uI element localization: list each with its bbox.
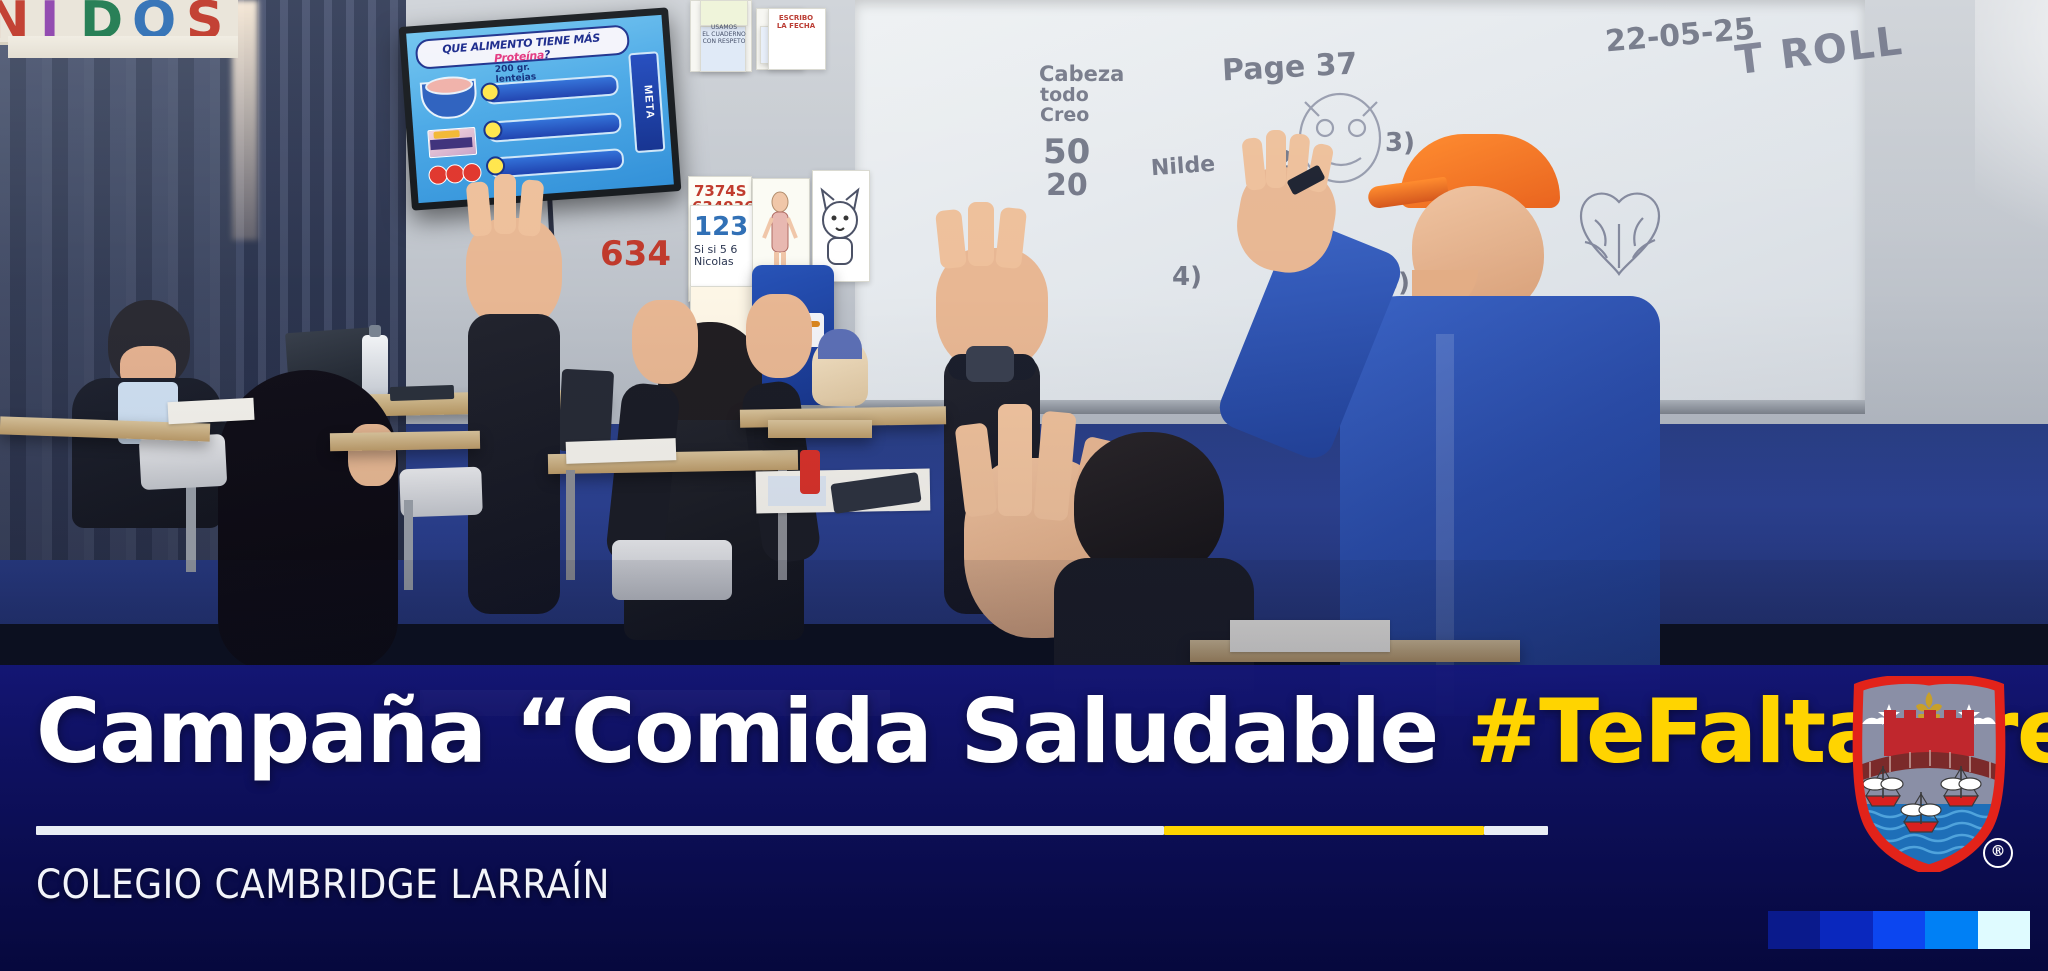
cat-poster-icon <box>818 180 862 270</box>
tv-screen-content: QUE ALIMENTO TIENE MÁS Proteína? 200 gr.… <box>406 15 674 203</box>
title-underline-white-left <box>36 826 1164 835</box>
whiteboard-note-left-2: todo <box>1040 84 1089 106</box>
brand-color-bar <box>1768 911 2030 949</box>
tv-question-end: ? <box>544 48 551 61</box>
raised-finger-l2 <box>494 174 516 234</box>
whiteboard-note-left-3: Creo <box>1040 104 1089 126</box>
desk-paper-1 <box>566 438 677 464</box>
whiteboard-fifty: 50 <box>1043 132 1090 172</box>
swatch-2 <box>1820 911 1872 949</box>
raised-finger-l1 <box>466 181 493 237</box>
poster-number-123: 123 <box>694 212 748 242</box>
classroom-screen: QUE ALIMENTO TIENE MÁS Proteína? 200 gr.… <box>399 7 682 210</box>
whiteboard-note-left-1: Cabeza <box>1039 62 1124 86</box>
swatch-3 <box>1873 911 1925 949</box>
poster-number-634: 634 <box>600 234 671 274</box>
student-desk-3 <box>768 420 872 438</box>
teacher-finger-2 <box>1266 130 1286 188</box>
campaign-title: Campaña “Comida Saludable #TeFaltaJurel” <box>36 688 2048 776</box>
wristwatch-face <box>966 346 1014 382</box>
desk-paper-3 <box>167 398 254 424</box>
desk-mid-left <box>330 431 480 452</box>
banner-decoration <box>8 36 238 58</box>
screenshot-root: 22-05-25 T ROLL Page 37 Cabeza todo Creo… <box>0 0 2048 971</box>
center-boy-hand-left <box>632 300 698 384</box>
raised-finger-r2 <box>968 202 994 266</box>
tv-goal-label: META <box>628 51 665 153</box>
glue-stick <box>800 450 820 494</box>
wall-poster-date-text: ESCRIBOLA FECHA <box>772 14 820 30</box>
wall-poster-3 <box>700 0 748 26</box>
tv-bowl-icon <box>420 79 479 121</box>
tv-bar-2 <box>487 112 622 143</box>
school-name: COLEGIO CAMBRIDGE LARRAÍN <box>36 862 610 908</box>
whiteboard-number-4: 4) <box>1172 262 1202 292</box>
wall-poster-3-text: USAMOSEL CUADERNOCON RESPETO <box>702 24 746 45</box>
plush-toy <box>812 338 868 406</box>
poster-handwriting: Si si 5 6Nicolas <box>694 244 737 268</box>
whiteboard-name: Nilde <box>1150 152 1216 181</box>
fg-finger-1 <box>955 422 998 517</box>
title-part-1: Campaña “Comida Saludable <box>36 680 1467 783</box>
title-underline-white-right <box>1484 826 1548 835</box>
swatch-5 <box>1978 911 2030 949</box>
chair-1 <box>139 434 228 490</box>
swatch-1 <box>1768 911 1820 949</box>
whiteboard-twenty: 20 <box>1046 168 1088 203</box>
title-underline-yellow <box>1164 826 1484 835</box>
fg-finger-2 <box>998 404 1032 516</box>
registered-trademark-icon: ® <box>1983 838 2013 868</box>
center-boy-hand-right <box>746 294 812 378</box>
swatch-4 <box>1925 911 1977 949</box>
